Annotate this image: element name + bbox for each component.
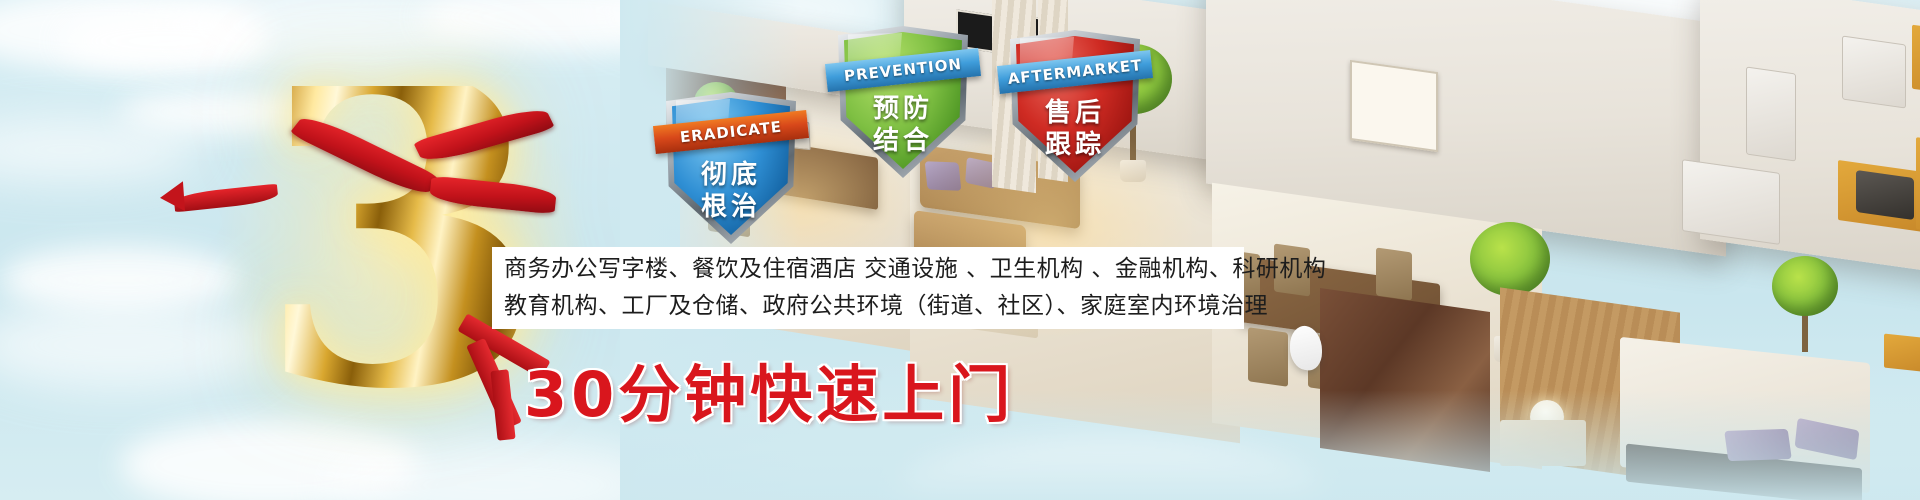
headline-text: 30分钟快速上门	[524, 344, 1014, 434]
service-scope-panel: 商务办公写字楼、餐饮及住宿酒店 交通设施 、卫生机构 、金融机构、科研机构 教育…	[492, 247, 1244, 329]
badge-prevention: PREVENTION 预防 结合	[838, 26, 968, 178]
ribbon-arrow-head	[159, 181, 185, 213]
badge-chinese-line2: 结合	[838, 120, 968, 157]
service-scope-line-1: 商务办公写字楼、餐饮及住宿酒店 交通设施 、卫生机构 、金融机构、科研机构	[504, 251, 1232, 288]
badge-chinese-line2: 根治	[666, 186, 796, 223]
badge-chinese-line2: 跟踪	[1010, 124, 1140, 161]
badge-aftermarket: AFTERMARKET 售后 跟踪	[1010, 30, 1140, 182]
service-scope-line-2: 教育机构、工厂及仓储、政府公共环境（街道、社区）、家庭室内环境治理	[504, 288, 1232, 325]
badge-english-label: ERADICATE	[679, 118, 783, 147]
badge-eradicate: ERADICATE 彻底 根治	[666, 92, 796, 244]
promo-banner: 3 ERADICATE 彻底 根治 PREVENTION 预防 结合	[0, 0, 1920, 500]
